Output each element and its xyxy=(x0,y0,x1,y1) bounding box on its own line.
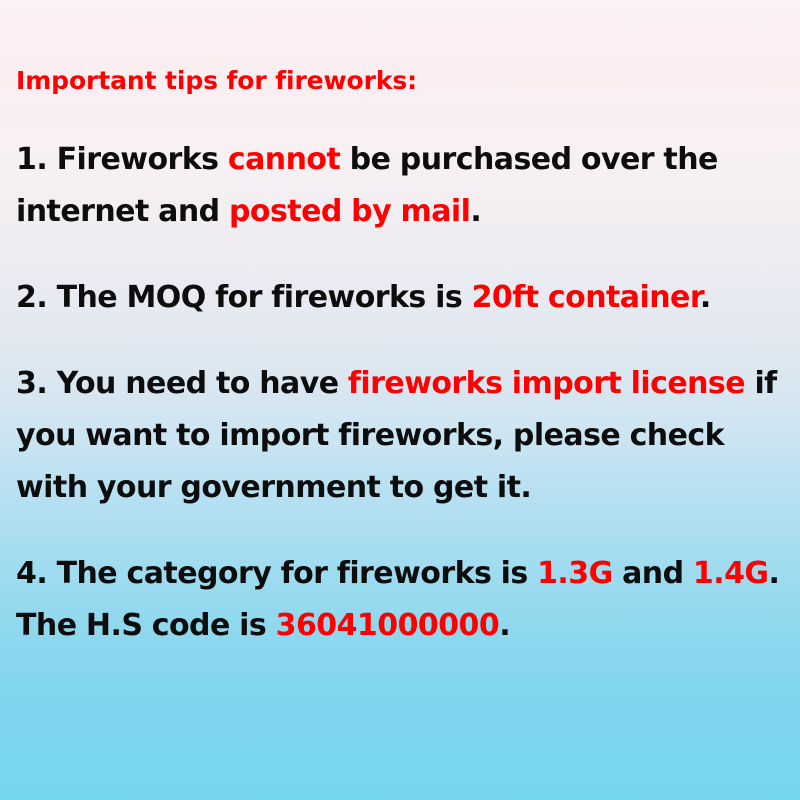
tip-2-text-part-2: . xyxy=(700,280,711,315)
tip-3-text-part-1: 3. You need to have xyxy=(16,366,348,401)
tip-item-1: 1. Fireworks cannot be purchased over th… xyxy=(16,134,792,238)
tip-4-highlight-category-14g: 1.4G xyxy=(693,556,769,591)
fireworks-tips-poster: Important tips for fireworks: 1. Firewor… xyxy=(0,0,800,800)
tip-item-3: 3. You need to have fireworks import lic… xyxy=(16,358,792,514)
tip-4-highlight-category-13g: 1.3G xyxy=(537,556,613,591)
tip-item-2: 2. The MOQ for fireworks is 20ft contain… xyxy=(16,272,792,324)
page-title: Important tips for fireworks: xyxy=(16,64,792,98)
tip-2-highlight-moq: 20ft container xyxy=(472,280,700,315)
tip-4-text-part-1: 4. The category for fireworks is xyxy=(16,556,537,591)
tip-4-text-part-4: . xyxy=(499,608,510,643)
tip-2-text-part-1: 2. The MOQ for fireworks is xyxy=(16,280,472,315)
tip-1-highlight-cannot: cannot xyxy=(228,142,340,177)
tip-1-highlight-posted-by-mail: posted by mail xyxy=(229,194,470,229)
tip-3-highlight-import-license: fireworks import license xyxy=(348,366,745,401)
tip-4-text-part-2: and xyxy=(613,556,693,591)
poster-content: Important tips for fireworks: 1. Firewor… xyxy=(16,64,792,652)
tip-4-highlight-hs-code: 36041000000 xyxy=(276,608,500,643)
tip-1-text-part-3: . xyxy=(470,194,481,229)
tip-1-text-part-1: 1. Fireworks xyxy=(16,142,228,177)
tip-item-4: 4. The category for fireworks is 1.3G an… xyxy=(16,548,792,652)
